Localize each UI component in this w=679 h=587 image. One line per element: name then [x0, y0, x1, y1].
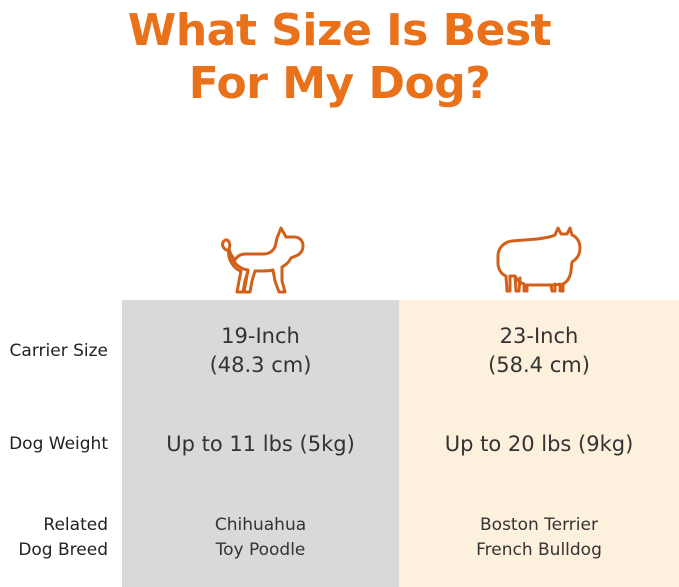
page-title-line-1: What Size Is Best [0, 4, 679, 57]
dog-icon-row [0, 205, 679, 300]
label-gutter [112, 422, 122, 466]
cell-line: Up to 11 lbs (5kg) [166, 430, 355, 459]
row-label-line: Carrier Size [10, 339, 108, 364]
row-label-carrier-size: Carrier Size [0, 317, 112, 385]
cell-carrier-size-small: 19-Inch (48.3 cm) [122, 317, 399, 385]
cell-line: French Bulldog [476, 538, 602, 563]
cell-dog-weight-small: Up to 11 lbs (5kg) [122, 422, 399, 466]
page-title: What Size Is Best For My Dog? [0, 0, 679, 125]
label-gutter [112, 507, 122, 569]
cell-line: (48.3 cm) [210, 351, 312, 380]
row-label-line: Dog Weight [9, 432, 108, 457]
cell-line: Chihuahua [215, 513, 306, 538]
cell-line: Toy Poodle [216, 538, 306, 563]
french-bulldog-icon [491, 226, 587, 300]
cell-related-breed-small: Chihuahua Toy Poodle [122, 507, 399, 569]
cell-carrier-size-medium: 23-Inch (58.4 cm) [399, 317, 679, 385]
cell-line: 23-Inch [500, 322, 579, 351]
table-row: Carrier Size 19-Inch (48.3 cm) 23-Inch (… [0, 317, 679, 385]
dog-icon-cell-small [122, 205, 399, 300]
row-label-line: Related [43, 513, 108, 538]
row-label-dog-weight: Dog Weight [0, 422, 112, 466]
page-title-line-2: For My Dog? [0, 57, 679, 110]
cell-dog-weight-medium: Up to 20 lbs (9kg) [399, 422, 679, 466]
dog-icon-cell-medium [399, 205, 679, 300]
cell-related-breed-medium: Boston Terrier French Bulldog [399, 507, 679, 569]
cell-line: Boston Terrier [480, 513, 598, 538]
cell-line: 19-Inch [221, 322, 300, 351]
label-gutter [112, 317, 122, 385]
row-label-related-dog-breed: Related Dog Breed [0, 507, 112, 569]
cell-line: Up to 20 lbs (9kg) [445, 430, 634, 459]
row-label-line: Dog Breed [18, 538, 108, 563]
comparison-table: Carrier Size 19-Inch (48.3 cm) 23-Inch (… [0, 300, 679, 587]
table-row: Related Dog Breed Chihuahua Toy Poodle B… [0, 507, 679, 569]
chihuahua-dog-icon [215, 224, 307, 300]
cell-line: (58.4 cm) [488, 351, 590, 380]
table-row: Dog Weight Up to 11 lbs (5kg) Up to 20 l… [0, 422, 679, 466]
